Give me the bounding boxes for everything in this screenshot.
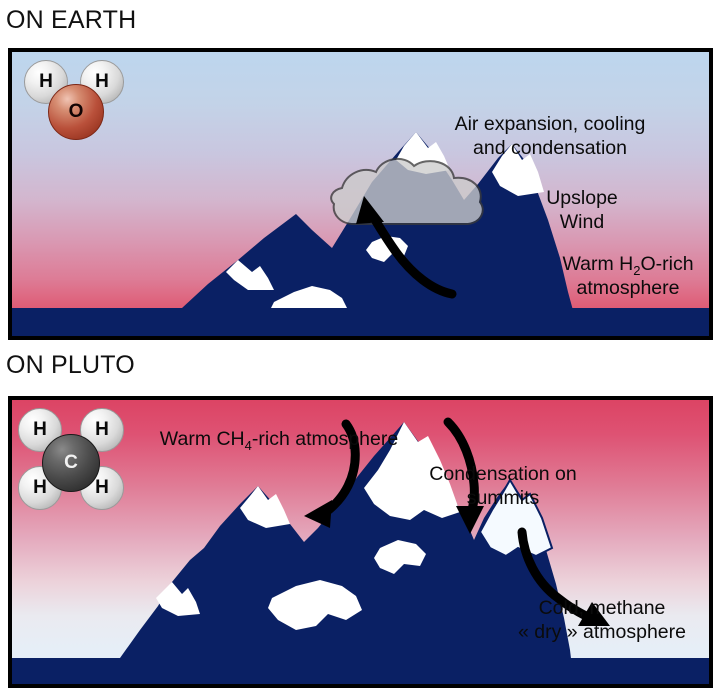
earth-cloud bbox=[331, 159, 483, 224]
methane-molecule: H H H H C bbox=[18, 408, 126, 516]
earth-upslope-line-2: Wind bbox=[512, 210, 652, 234]
pluto-panel-title: ON PLUTO bbox=[6, 351, 135, 380]
water-molecule: H H O bbox=[22, 60, 126, 146]
earth-condensation-label: Air expansion, cooling and condensation bbox=[430, 112, 670, 160]
pluto-warm-pre: Warm CH bbox=[160, 428, 245, 450]
earth-warm-line-1: Warm H2O-rich bbox=[540, 252, 713, 276]
earth-upslope-line-1: Upslope bbox=[512, 186, 652, 210]
pluto-cold-dry-label: Cold, methane « dry » atmosphere bbox=[492, 596, 712, 644]
earth-panel: H H O Air expansion, cooling and condens… bbox=[8, 48, 713, 340]
earth-panel-title: ON EARTH bbox=[6, 6, 136, 35]
earth-warm-line-2: atmosphere bbox=[540, 276, 713, 300]
earth-condensation-line-1: Air expansion, cooling bbox=[430, 112, 670, 136]
earth-warm-post: O-rich bbox=[640, 253, 693, 275]
earth-warm-pre: Warm H bbox=[562, 253, 633, 275]
earth-condensation-line-2: and condensation bbox=[430, 136, 670, 160]
pluto-warm-post: -rich atmosphere bbox=[252, 428, 398, 450]
pluto-condensation-line-1: Condensation on bbox=[408, 462, 598, 486]
pluto-condensation-label: Condensation on summits bbox=[408, 462, 598, 510]
pluto-warm-subscript: 4 bbox=[245, 438, 252, 453]
oxygen-atom: O bbox=[48, 84, 104, 140]
carbon-atom: C bbox=[42, 434, 100, 492]
pluto-condensation-line-2: summits bbox=[408, 486, 598, 510]
pluto-panel: H H H H C Warm CH4-rich atmosphere Conde… bbox=[8, 396, 713, 688]
pluto-cold-line-2: « dry » atmosphere bbox=[492, 620, 712, 644]
pluto-warm-atmosphere-label: Warm CH4-rich atmosphere bbox=[144, 427, 414, 451]
pluto-ground bbox=[12, 658, 709, 684]
earth-upslope-wind-label: Upslope Wind bbox=[512, 186, 652, 234]
pluto-cold-line-1: Cold, methane bbox=[492, 596, 712, 620]
earth-ground bbox=[12, 308, 709, 336]
earth-warm-atmosphere-label: Warm H2O-rich atmosphere bbox=[540, 252, 713, 300]
